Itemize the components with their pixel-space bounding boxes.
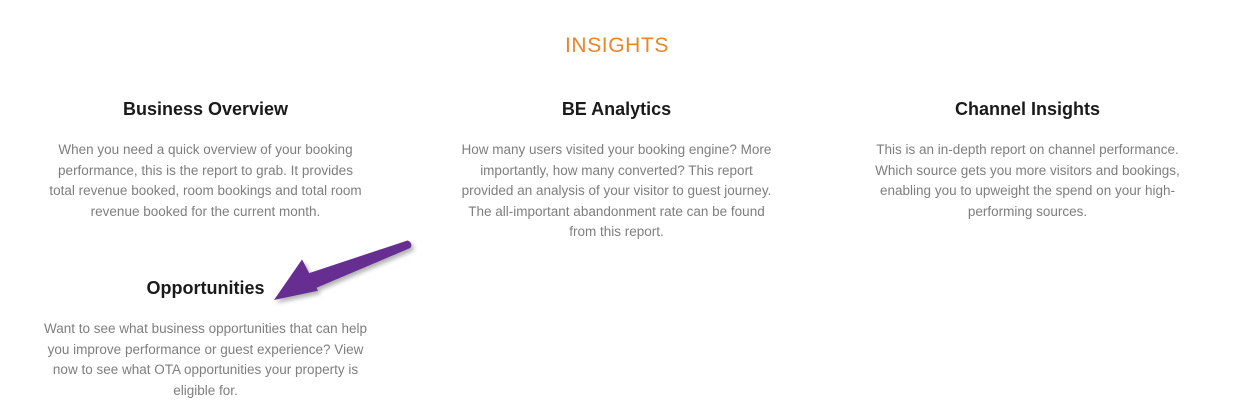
feature-heading-business-overview: Business Overview — [123, 96, 288, 122]
insights-page: INSIGHTS Business Overview When you need… — [0, 0, 1234, 412]
features-row-2: Opportunities Want to see what business … — [0, 275, 1234, 401]
feature-card-business-overview[interactable]: Business Overview When you need a quick … — [0, 96, 411, 222]
features-row-1: Business Overview When you need a quick … — [0, 96, 1234, 243]
feature-heading-opportunities: Opportunities — [147, 275, 265, 301]
feature-body-be-analytics: How many users visited your booking engi… — [456, 140, 778, 243]
feature-heading-be-analytics: BE Analytics — [562, 96, 671, 122]
feature-card-opportunities[interactable]: Opportunities Want to see what business … — [0, 275, 411, 401]
feature-card-channel-insights[interactable]: Channel Insights This is an in-depth rep… — [822, 96, 1233, 222]
feature-body-opportunities: Want to see what business opportunities … — [41, 319, 371, 401]
page-title: INSIGHTS — [0, 32, 1234, 60]
feature-body-business-overview: When you need a quick overview of your b… — [45, 140, 367, 222]
feature-heading-channel-insights: Channel Insights — [955, 96, 1100, 122]
feature-body-channel-insights: This is an in-depth report on channel pe… — [867, 140, 1189, 222]
feature-card-be-analytics[interactable]: BE Analytics How many users visited your… — [411, 96, 822, 243]
